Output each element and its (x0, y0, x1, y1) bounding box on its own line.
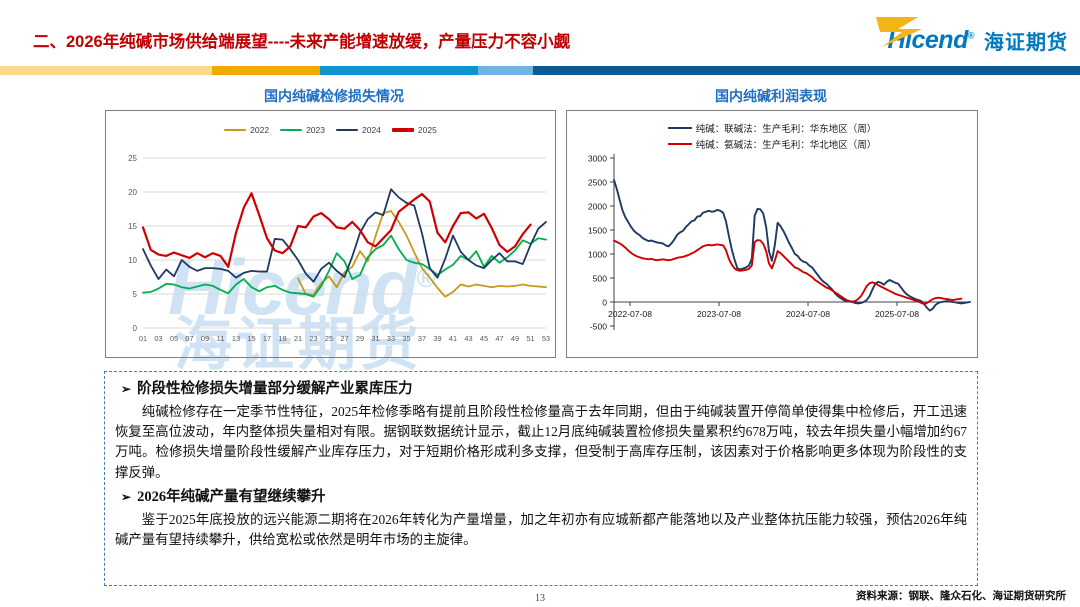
svg-text:05: 05 (170, 334, 178, 343)
svg-text:11: 11 (217, 334, 225, 343)
svg-text:29: 29 (356, 334, 364, 343)
logo-wordmark: Hicend® (888, 28, 975, 53)
svg-text:31: 31 (371, 334, 379, 343)
arrow-bullet-icon-2: ➢ (121, 488, 131, 506)
svg-text:07: 07 (185, 334, 193, 343)
svg-text:35: 35 (402, 334, 410, 343)
logo-chinese-name: 海证期货 (984, 26, 1068, 55)
bullet-heading-1-text: 阶段性检修损失增量部分缓解产业累库压力 (137, 380, 413, 400)
svg-text:21: 21 (294, 334, 302, 343)
strip-segment-4 (478, 66, 533, 75)
svg-text:2023-07-08: 2023-07-08 (697, 309, 741, 319)
svg-text:20: 20 (128, 188, 137, 197)
svg-text:47: 47 (495, 334, 503, 343)
svg-text:-500: -500 (590, 322, 607, 332)
strip-segment-2 (212, 66, 320, 75)
analysis-textbox: ➢ 阶段性检修损失增量部分缓解产业累库压力 纯碱检修存在一定季节性特征，2025… (104, 371, 978, 586)
svg-text:2000: 2000 (588, 202, 607, 212)
svg-text:09: 09 (201, 334, 209, 343)
svg-text:500: 500 (593, 274, 608, 284)
svg-text:13: 13 (232, 334, 240, 343)
bullet-heading-1: ➢ 阶段性检修损失增量部分缓解产业累库压力 (121, 380, 967, 400)
svg-text:25: 25 (128, 154, 137, 163)
logo-swoosh-icon (868, 15, 930, 49)
svg-text:53: 53 (542, 334, 550, 343)
right-chart-plot: -5000500100015002000250030002022-07-0820… (566, 110, 978, 358)
svg-text:2022-07-08: 2022-07-08 (608, 309, 652, 319)
left-chart-plot: 0510152025010305070911131517192123252729… (105, 110, 556, 358)
svg-text:0: 0 (133, 324, 138, 333)
svg-text:5: 5 (133, 290, 138, 299)
svg-text:19: 19 (278, 334, 286, 343)
svg-text:37: 37 (418, 334, 426, 343)
header-color-strip (0, 66, 1080, 75)
svg-text:23: 23 (309, 334, 317, 343)
svg-text:15: 15 (128, 222, 137, 231)
svg-text:27: 27 (340, 334, 348, 343)
svg-text:0: 0 (602, 298, 607, 308)
svg-text:39: 39 (433, 334, 441, 343)
svg-text:15: 15 (247, 334, 255, 343)
right-chart-title: 国内纯碱利润表现 (562, 86, 980, 106)
strip-segment-5 (533, 66, 1080, 75)
arrow-bullet-icon: ➢ (121, 380, 131, 398)
paragraph-2: 鉴于2025年底投放的远兴能源二期将在2026年转化为产量增量，加之年初亦有应城… (115, 510, 967, 551)
svg-text:3000: 3000 (588, 154, 607, 164)
svg-text:17: 17 (263, 334, 271, 343)
svg-text:1000: 1000 (588, 250, 607, 260)
svg-text:33: 33 (387, 334, 395, 343)
svg-text:1500: 1500 (588, 226, 607, 236)
svg-text:25: 25 (325, 334, 333, 343)
svg-text:01: 01 (139, 334, 147, 343)
page-title: 二、2026年纯碱市场供给端展望----未来产能增速放缓，产量压力不容小觑 (33, 28, 570, 52)
left-chart-title: 国内纯碱检修损失情况 (104, 86, 564, 106)
svg-text:2500: 2500 (588, 178, 607, 188)
logo-registered-icon: ® (968, 30, 974, 40)
strip-segment-3 (320, 66, 478, 75)
strip-segment-1 (0, 66, 212, 75)
slide: 二、2026年纯碱市场供给端展望----未来产能增速放缓，产量压力不容小觑 Hi… (0, 0, 1080, 607)
svg-text:2024-07-08: 2024-07-08 (786, 309, 830, 319)
bullet-heading-2: ➢ 2026年纯碱产量有望继续攀升 (121, 488, 967, 508)
bullet-heading-2-text: 2026年纯碱产量有望继续攀升 (137, 488, 326, 508)
svg-text:41: 41 (449, 334, 457, 343)
source-note: 资料来源：钢联、隆众石化、海证期货研究所 (856, 588, 1066, 603)
hicend-logo: Hicend® 海证期货 (888, 23, 1069, 57)
svg-text:2025-07-08: 2025-07-08 (875, 309, 919, 319)
svg-text:10: 10 (128, 256, 137, 265)
svg-text:45: 45 (480, 334, 488, 343)
paragraph-1: 纯碱检修存在一定季节性特征，2025年检修季略有提前且阶段性检修量高于去年同期，… (115, 402, 967, 484)
svg-text:43: 43 (464, 334, 472, 343)
svg-text:49: 49 (511, 334, 519, 343)
svg-text:51: 51 (526, 334, 534, 343)
svg-text:03: 03 (154, 334, 162, 343)
